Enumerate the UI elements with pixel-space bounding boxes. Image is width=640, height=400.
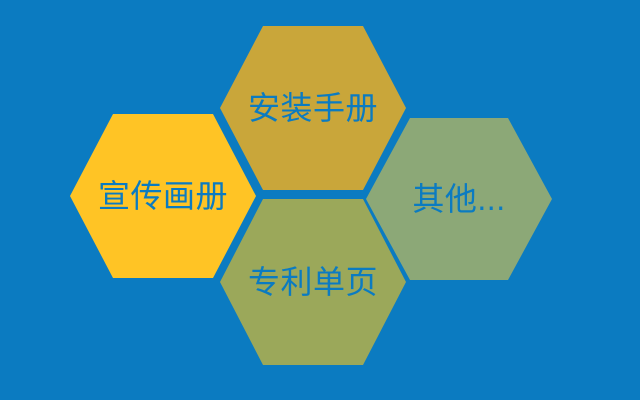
hexagon-label-installation-manual: 安装手册 — [248, 92, 378, 124]
hexagon-shape-layer — [0, 0, 640, 400]
hexagon-label-brochure: 宣传画册 — [98, 180, 228, 212]
hexagon-label-others: 其他... — [412, 183, 505, 215]
diagram-canvas: 宣传画册安装手册专利单页其他... — [0, 0, 640, 400]
hexagon-label-patent-flyer: 专利单页 — [248, 266, 378, 298]
